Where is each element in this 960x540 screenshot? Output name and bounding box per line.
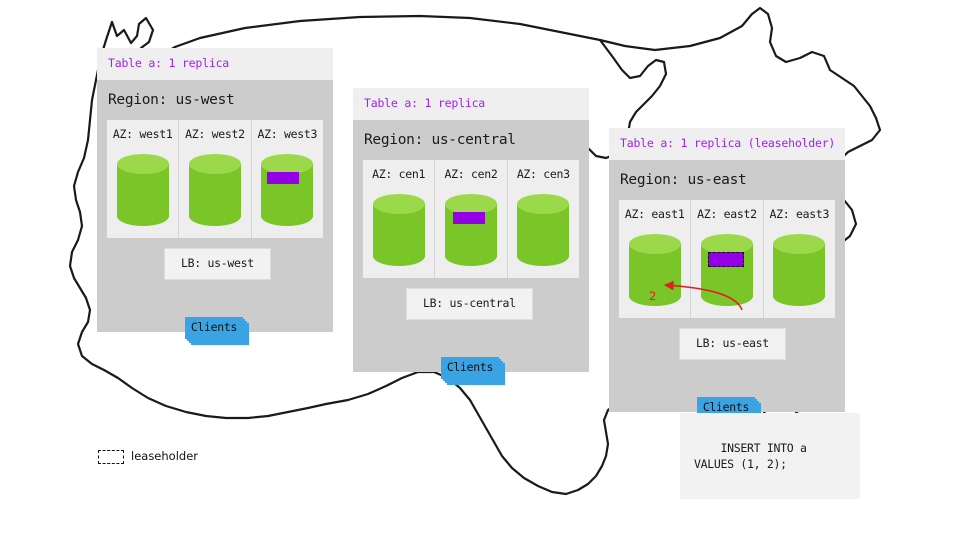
az-label-east1: AZ: east1 (625, 209, 685, 221)
node-cylinder-cen2[interactable] (443, 192, 499, 268)
node-cylinder-east3[interactable] (771, 232, 827, 308)
region-header-us-central: Table a: 1 replica (353, 88, 589, 120)
node-cylinder-cen1[interactable] (371, 192, 427, 268)
diagram-canvas: Table a: 1 replica Region: us-west AZ: w… (0, 0, 960, 540)
load-balancer-us-west[interactable]: LB: us-west (164, 248, 271, 280)
load-balancer-label-us-west: LB: us-west (181, 256, 254, 270)
load-balancer-label-us-central: LB: us-central (423, 296, 516, 310)
region-title-us-east: Region: us-east (619, 160, 835, 201)
load-balancer-us-east[interactable]: LB: us-east (679, 328, 786, 360)
sql-statement-box: INSERT INTO a VALUES (1, 2); (680, 413, 860, 499)
replica-marker-west3 (267, 172, 299, 184)
az-label-west3: AZ: west3 (258, 129, 318, 141)
region-body-us-central: Region: us-central AZ: cen1 AZ: cen2 (353, 120, 589, 372)
replica-marker-cen2 (453, 212, 485, 224)
legend-label: leaseholder (131, 451, 198, 463)
dashed-rect-icon (98, 450, 124, 464)
node-cylinder-cen3[interactable] (515, 192, 571, 268)
clients-label-us-central: Clients (447, 362, 493, 374)
node-cylinder-east2[interactable] (699, 232, 755, 308)
region-body-us-west: Region: us-west AZ: west1 AZ: west2 (97, 80, 333, 332)
az-cell-cen3[interactable]: AZ: cen3 (507, 160, 579, 278)
az-strip-us-west: AZ: west1 AZ: west2 (107, 120, 323, 238)
region-title-us-central: Region: us-central (363, 120, 579, 161)
node-cylinder-west3[interactable] (259, 152, 315, 228)
clients-stack-us-central[interactable]: Clients (441, 357, 507, 387)
az-cell-west1[interactable]: AZ: west1 (107, 120, 178, 238)
legend-leaseholder: leaseholder (98, 450, 198, 464)
az-label-cen3: AZ: cen3 (517, 169, 570, 181)
az-label-west2: AZ: west2 (185, 129, 245, 141)
region-panel-us-central: Table a: 1 replica Region: us-central AZ… (353, 88, 589, 372)
node-cylinder-west2[interactable] (187, 152, 243, 228)
az-cell-west2[interactable]: AZ: west2 (178, 120, 250, 238)
az-cell-east2[interactable]: AZ: east2 (690, 200, 762, 318)
clients-button-us-west[interactable]: Clients (185, 317, 243, 339)
region-panel-us-west: Table a: 1 replica Region: us-west AZ: w… (97, 48, 333, 332)
az-strip-us-central: AZ: cen1 AZ: cen2 (363, 160, 579, 278)
load-balancer-label-us-east: LB: us-east (696, 336, 769, 350)
sql-statement-text: INSERT INTO a VALUES (1, 2); (694, 441, 807, 471)
region-header-us-east: Table a: 1 replica (leaseholder) (609, 128, 845, 160)
region-header-us-west: Table a: 1 replica (97, 48, 333, 80)
leaseholder-replica-marker-east2 (708, 252, 744, 267)
az-label-cen1: AZ: cen1 (372, 169, 425, 181)
load-balancer-us-central[interactable]: LB: us-central (406, 288, 533, 320)
az-label-east2: AZ: east2 (697, 209, 757, 221)
region-title-us-west: Region: us-west (107, 80, 323, 121)
az-cell-west3[interactable]: AZ: west3 (251, 120, 323, 238)
az-label-cen2: AZ: cen2 (444, 169, 497, 181)
arrow-step-number: 2 (649, 289, 656, 303)
arrow-step-label: 2 (649, 291, 656, 303)
az-cell-east3[interactable]: AZ: east3 (763, 200, 835, 318)
region-panel-us-east: Table a: 1 replica (leaseholder) Region:… (609, 128, 845, 412)
az-label-west1: AZ: west1 (113, 129, 173, 141)
az-label-east3: AZ: east3 (770, 209, 830, 221)
clients-stack-us-west[interactable]: Clients (185, 317, 251, 347)
clients-label-us-west: Clients (191, 322, 237, 334)
az-cell-cen1[interactable]: AZ: cen1 (363, 160, 434, 278)
region-body-us-east: Region: us-east AZ: east1 AZ: east2 (609, 160, 845, 412)
clients-button-us-central[interactable]: Clients (441, 357, 499, 379)
node-cylinder-west1[interactable] (115, 152, 171, 228)
az-cell-cen2[interactable]: AZ: cen2 (434, 160, 506, 278)
